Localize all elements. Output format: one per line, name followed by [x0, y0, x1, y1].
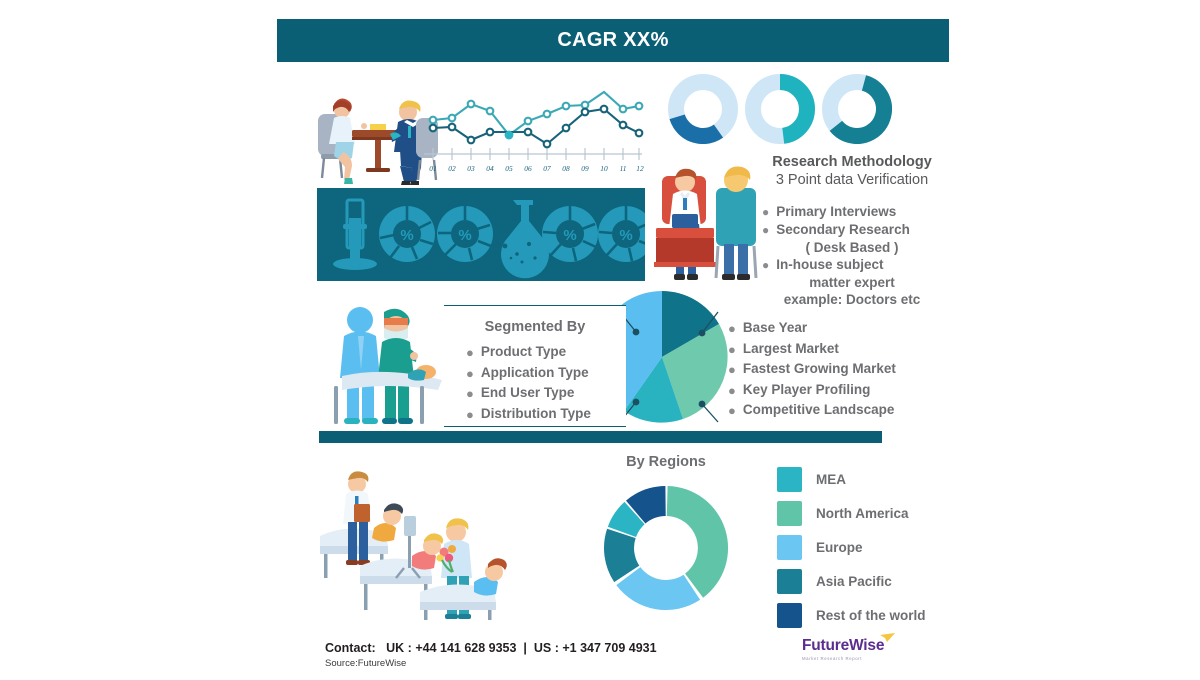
percent-donut-icon-2: %: [437, 206, 493, 262]
list-item-label: Key Player Profiling: [743, 380, 871, 401]
legend-label: Europe: [816, 540, 863, 555]
bullet-icon: ●: [728, 404, 736, 417]
list-item: ● Secondary Research: [762, 221, 942, 238]
legend-label: Rest of the world: [816, 608, 926, 623]
bullet-icon: ●: [762, 259, 769, 271]
contact-label: Contact:: [325, 641, 376, 655]
futurewise-logo[interactable]: FutureWise Market Research Report: [802, 637, 884, 661]
list-item-label: End User Type: [481, 383, 575, 404]
research-methodology-block: Research Methodology 3 Point data Verifi…: [762, 153, 942, 308]
regions-donut-chart: [596, 478, 736, 618]
legend-item-mea: MEA: [777, 462, 926, 496]
donut-chart-1: [668, 74, 741, 144]
logo-tagline: Market Research Report: [802, 656, 884, 661]
percent-glyph: %: [400, 227, 413, 244]
bullet-icon: ●: [762, 206, 769, 218]
section-divider: [319, 431, 882, 443]
list-item-label: Largest Market: [743, 339, 839, 360]
list-item-label: Primary Interviews: [776, 203, 896, 220]
bullet-icon: ●: [728, 363, 736, 376]
research-methodology-subtitle: 3 Point data Verification: [762, 171, 942, 189]
legend-item-rest-of-world: Rest of the world: [777, 598, 926, 632]
tick-label: 08: [562, 164, 570, 173]
tick-label: 06: [524, 164, 532, 173]
legend-label: MEA: [816, 472, 846, 487]
list-item: ● Competitive Landscape: [728, 400, 928, 421]
matter-expert-note: matter expert: [762, 274, 942, 291]
regions-legend: MEA North America Europe Asia Pacific Re…: [777, 462, 926, 632]
legend-swatch-rest-of-world: [777, 603, 802, 628]
tick-label: 10: [600, 164, 608, 173]
list-item: ● Product Type: [466, 342, 626, 363]
research-methodology-title: Research Methodology: [762, 153, 942, 171]
percent-donut-icon-3: %: [542, 206, 598, 262]
bullet-icon: ●: [762, 224, 769, 236]
segmented-by-list: ● Product Type ● Application Type ● End …: [444, 342, 626, 424]
bullet-icon: ●: [466, 408, 474, 421]
bullet-icon: ●: [728, 343, 736, 356]
list-item-label: Distribution Type: [481, 404, 591, 425]
source-line: Source:FutureWise: [325, 658, 406, 669]
tick-label: 01: [429, 164, 436, 173]
percent-glyph: %: [619, 227, 632, 244]
list-item: ● Fastest Growing Market: [728, 359, 928, 380]
flask-icon: [501, 200, 549, 278]
list-item-label: Secondary Research: [776, 221, 910, 238]
list-item-label: Product Type: [481, 342, 566, 363]
us-label: US :: [534, 641, 559, 655]
percent-donut-icon-4: %: [598, 206, 645, 262]
lab-icon-band-icons: % %: [317, 188, 645, 281]
percent-glyph: %: [563, 227, 576, 244]
legend-item-asia-pacific: Asia Pacific: [777, 564, 926, 598]
bullet-icon: ●: [728, 322, 736, 335]
legend-label: North America: [816, 506, 909, 521]
legend-swatch-asia-pacific: [777, 569, 802, 594]
separator: |: [523, 641, 527, 655]
legend-swatch-mea: [777, 467, 802, 492]
logo-text: FutureWise: [802, 637, 884, 654]
legend-item-europe: Europe: [777, 530, 926, 564]
uk-phone: +44 141 628 9353: [415, 641, 516, 655]
tick-label: 04: [486, 164, 494, 173]
test-tube-icon: [333, 200, 377, 270]
us-phone: +1 347 709 4931: [562, 641, 656, 655]
market-highlights-list: ● Base Year ● Largest Market ● Fastest G…: [728, 318, 928, 421]
tick-label: 05: [505, 164, 513, 173]
tick-label: 03: [467, 164, 475, 173]
bullet-icon: ●: [466, 387, 474, 400]
list-item: ● Primary Interviews: [762, 203, 942, 220]
example-note: example: Doctors etc: [762, 291, 942, 308]
page-title: CAGR XX%: [557, 29, 668, 52]
list-item: ● End User Type: [466, 383, 626, 404]
trend-line-chart: 01 02 03 04 05 06 07 08 09 10 11 12: [420, 80, 648, 188]
legend-swatch-north-america: [777, 501, 802, 526]
list-item: ● Largest Market: [728, 339, 928, 360]
list-item: ● Base Year: [728, 318, 928, 339]
tick-label: 07: [543, 164, 551, 173]
top-donut-charts: [668, 74, 892, 144]
doctor-consultation-illustration: [652, 158, 768, 284]
list-item-label: Application Type: [481, 363, 589, 384]
legend-item-north-america: North America: [777, 496, 926, 530]
bullet-icon: ●: [728, 384, 736, 397]
tick-label: 11: [620, 164, 627, 173]
bullet-icon: ●: [466, 346, 474, 359]
header-banner: CAGR XX%: [277, 19, 949, 62]
percent-glyph: %: [458, 227, 471, 244]
research-methodology-list: ● Primary Interviews ● Secondary Researc…: [762, 203, 942, 308]
donut-chart-3: [824, 76, 890, 142]
list-item-label: Base Year: [743, 318, 807, 339]
list-item-label: Fastest Growing Market: [743, 359, 896, 380]
list-item: ● In-house subject: [762, 256, 942, 273]
regions-title: By Regions: [596, 454, 736, 470]
legend-label: Asia Pacific: [816, 574, 892, 589]
legend-swatch-europe: [777, 535, 802, 560]
uk-label: UK :: [386, 641, 412, 655]
list-item: ● Distribution Type: [466, 404, 626, 425]
desk-based-note: ( Desk Based ): [762, 239, 942, 256]
list-item: ● Application Type: [466, 363, 626, 384]
arrow-icon: [880, 633, 896, 645]
donut-chart-2: [753, 82, 807, 136]
contact-line: Contact: UK : +44 141 628 9353 | US : +1…: [325, 641, 657, 655]
hospital-ward-illustration: [316, 458, 516, 620]
tick-label: 12: [636, 164, 644, 173]
tick-label: 09: [581, 164, 589, 173]
segmented-by-title: Segmented By: [444, 306, 626, 335]
list-item-label: In-house subject: [776, 256, 883, 273]
surgery-illustration: [322, 298, 446, 428]
list-item: ● Key Player Profiling: [728, 380, 928, 401]
bullet-icon: ●: [466, 367, 474, 380]
list-item-label: Competitive Landscape: [743, 400, 895, 421]
tick-label: 02: [448, 164, 456, 173]
percent-donut-icon-1: %: [379, 206, 435, 262]
infographic-canvas: CAGR XX%: [0, 0, 1200, 680]
segmented-by-panel: Segmented By ● Product Type ● Applicatio…: [444, 305, 626, 427]
